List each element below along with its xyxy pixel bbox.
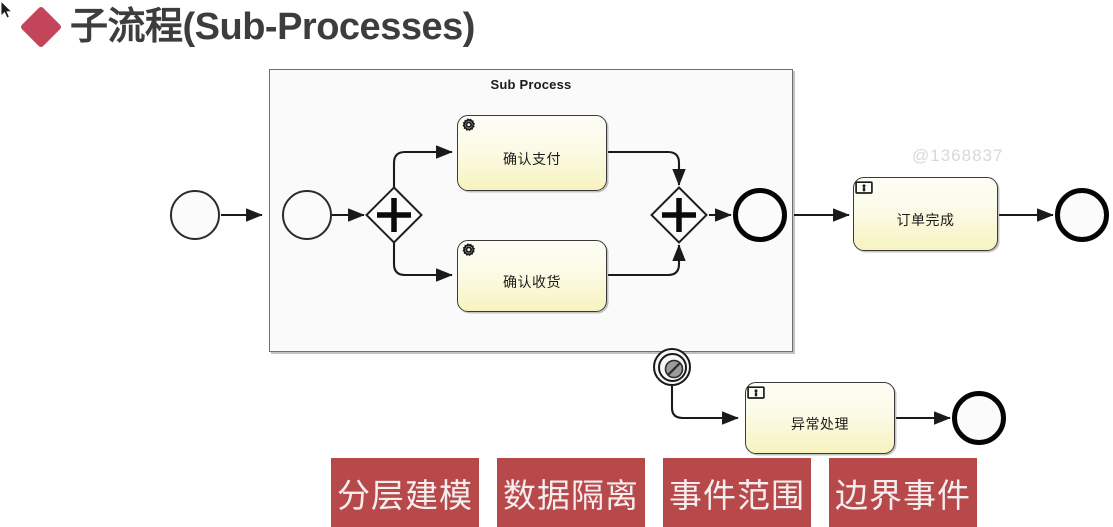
cancel-icon [655,350,693,388]
task-confirm-payment[interactable]: 确认支付 [457,115,607,191]
task-confirm-receipt[interactable]: 确认收货 [457,240,607,312]
gear-icon [458,116,478,136]
subprocess-start-event[interactable] [282,190,332,240]
gear-icon [458,241,478,261]
subprocess-end-event[interactable] [733,188,787,242]
flow-boundary-to-exception [672,386,738,418]
mouse-cursor-icon [0,0,13,19]
keyword-data-isolation[interactable]: 数据隔离 [497,458,645,527]
task-label: 订单完成 [897,210,955,230]
parallel-gateway-icon [650,186,708,244]
keyword-layered-modeling[interactable]: 分层建模 [331,458,479,527]
outer-start-event[interactable] [170,190,220,240]
keyword-boundary-event[interactable]: 边界事件 [829,458,977,527]
boundary-cancel-event[interactable] [653,348,691,386]
task-label: 确认支付 [503,149,561,169]
parallel-join-gateway[interactable] [650,186,708,244]
task-order-complete[interactable]: 订单完成 [853,177,998,251]
flow-receipt-to-join [608,245,679,275]
slide-root: 子流程(Sub-Processes) Sub Process [0,0,1113,527]
keyword-label: 边界事件 [835,469,971,517]
task-label: 确认收货 [503,272,561,292]
flow-split-to-receipt [394,243,452,275]
manual-task-icon [854,178,874,198]
flow-payment-to-join [608,152,679,185]
keyword-event-scope[interactable]: 事件范围 [663,458,811,527]
keyword-label: 分层建模 [337,469,473,517]
bpmn-diagram: Sub Process [0,0,1113,527]
parallel-split-gateway[interactable] [365,186,423,244]
main-end-event[interactable] [1055,188,1109,242]
keyword-row: 分层建模 数据隔离 事件范围 边界事件 [331,458,977,527]
exception-end-event[interactable] [952,391,1006,445]
parallel-gateway-icon [365,186,423,244]
watermark: @1368837 [912,146,1003,166]
keyword-label: 数据隔离 [503,469,639,517]
keyword-label: 事件范围 [669,469,805,517]
manual-task-icon [746,383,766,403]
flow-split-to-payment [394,152,452,187]
task-exception-handle[interactable]: 异常处理 [745,382,895,454]
task-label: 异常处理 [791,414,849,434]
